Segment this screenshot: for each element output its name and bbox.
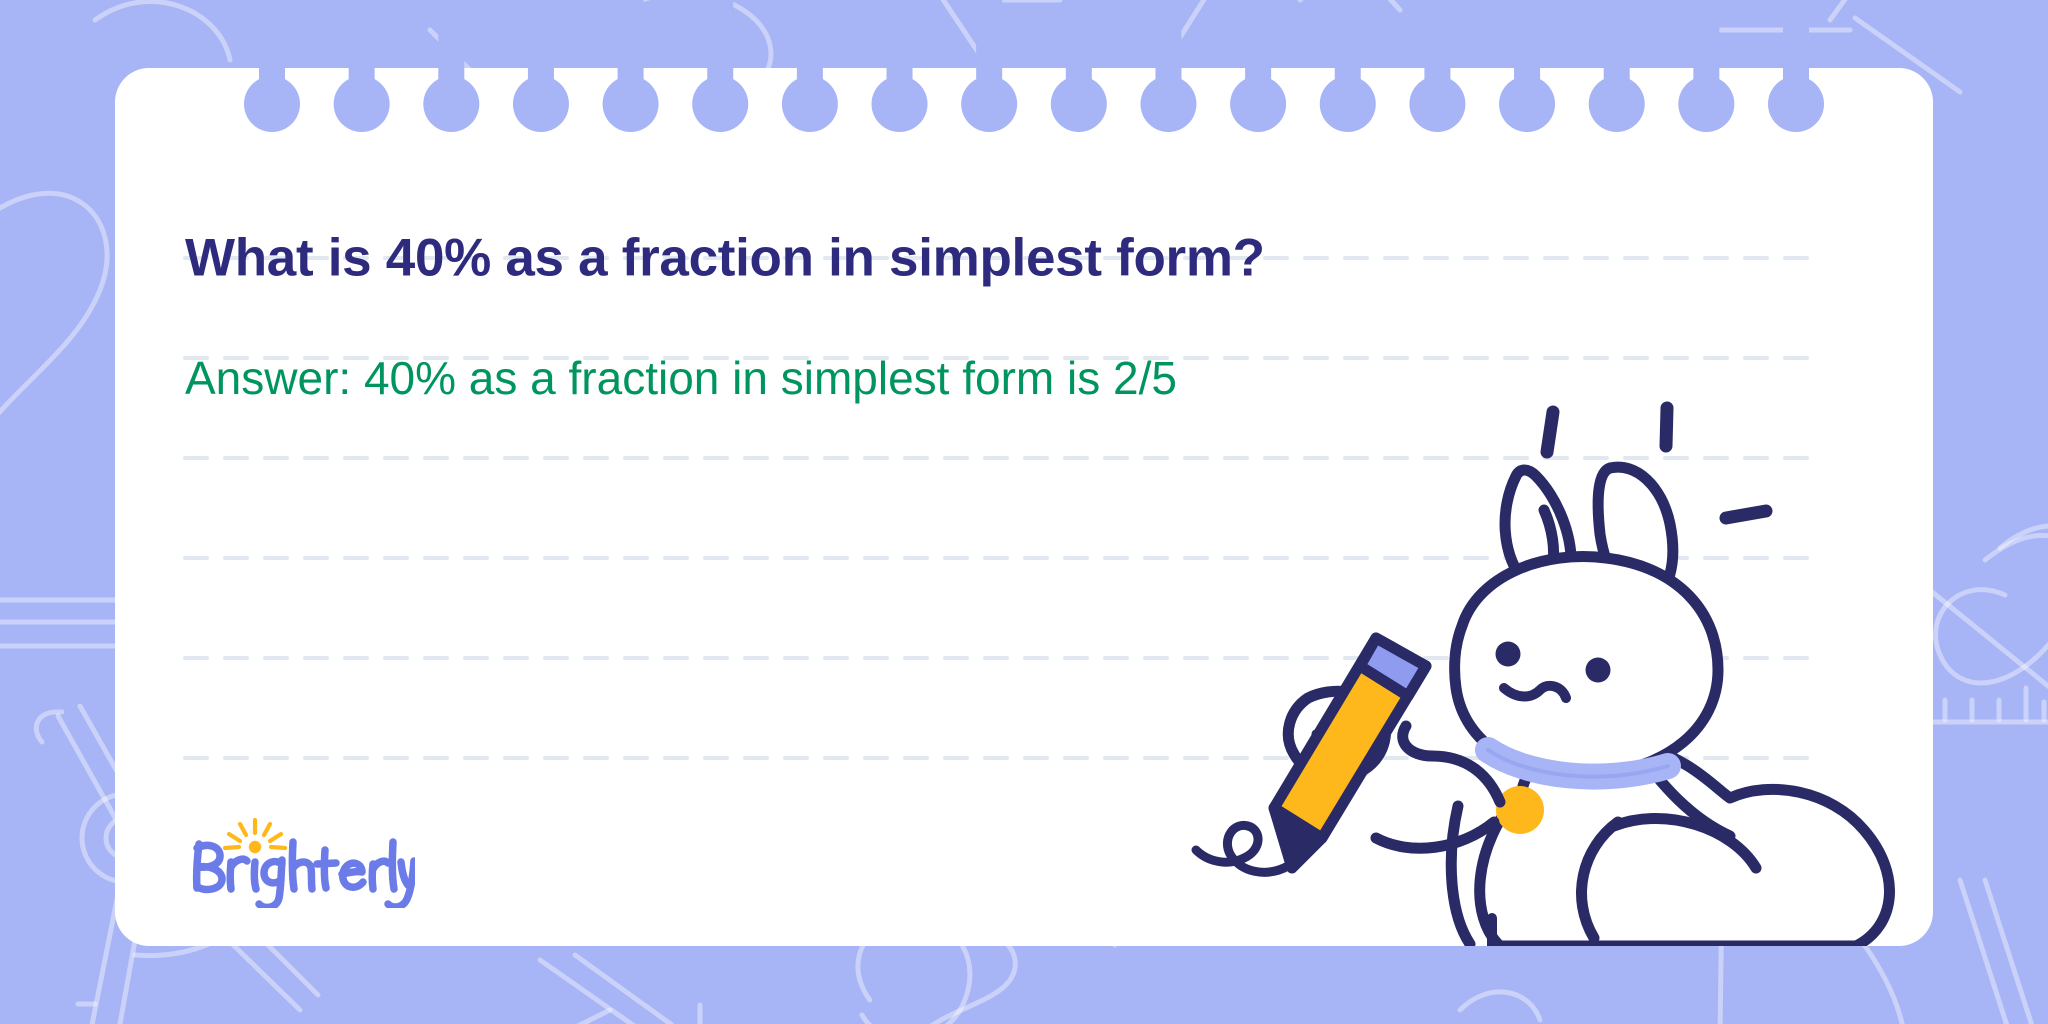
- bunny-eye-left: [1496, 642, 1521, 667]
- bunny-mascot: [1170, 398, 1930, 946]
- bunny-front-leg: [1451, 806, 1470, 944]
- notepad-card: What is 40% as a fraction in simplest fo…: [115, 68, 1933, 946]
- excitement-mark: [1666, 408, 1667, 446]
- answer-text: Answer: 40% as a fraction in simplest fo…: [185, 351, 1177, 405]
- brighterly-logo[interactable]: [185, 816, 415, 908]
- bunny-eye-right: [1586, 658, 1611, 683]
- question-title: What is 40% as a fraction in simplest fo…: [185, 228, 1265, 289]
- sunburst-core: [249, 841, 261, 853]
- excitement-mark: [1726, 511, 1766, 518]
- excitement-mark: [1547, 412, 1553, 452]
- page-root: What is 40% as a fraction in simplest fo…: [0, 0, 2048, 1024]
- bunny-arm-lower: [1376, 822, 1494, 848]
- logo-wordmark: [197, 842, 414, 907]
- bunny-collar-bell: [1496, 786, 1544, 834]
- pencil-scribble: [1196, 825, 1288, 872]
